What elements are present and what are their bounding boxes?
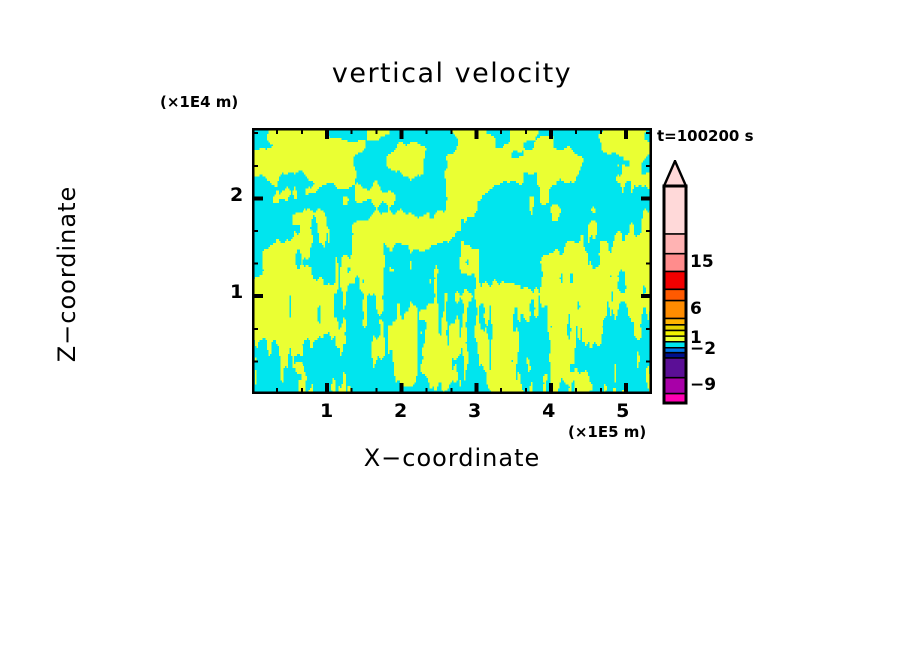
colorbar-tick-label: −2: [690, 339, 716, 359]
colorbar-tick-label: 6: [690, 299, 702, 319]
contour-plot: [252, 128, 652, 394]
colorbar-arrow-cap: [664, 161, 686, 186]
colorbar-band: [664, 358, 686, 378]
y-axis-unit-label: (×1E4 m): [160, 93, 238, 111]
x-tick-label: 3: [468, 400, 481, 422]
y-tick-label: 2: [230, 184, 243, 206]
y-tick-label: 1: [230, 281, 243, 303]
colorbar-band: [664, 301, 686, 319]
colorbar-tick-label: −9: [690, 375, 716, 395]
x-axis-title: X−coordinate: [0, 444, 904, 472]
colorbar: [662, 160, 704, 405]
colorbar-band: [664, 378, 686, 394]
x-tick-label: 1: [320, 400, 333, 422]
colorbar-band: [664, 271, 686, 289]
colorbar-band: [664, 234, 686, 254]
x-tick-label: 5: [616, 400, 629, 422]
y-axis-title: Z−coordinate: [53, 144, 81, 404]
colorbar-band: [664, 186, 686, 234]
x-axis-unit-label: (×1E5 m): [568, 423, 646, 441]
page-title: vertical velocity: [0, 58, 904, 89]
colorbar-band: [664, 289, 686, 301]
colorbar-band: [664, 254, 686, 272]
colorbar-tick-label: 15: [690, 252, 714, 272]
x-tick-label: 2: [394, 400, 407, 422]
figure-root: vertical velocity (×1E4 m) t=100200 s 12…: [0, 0, 904, 654]
timestamp-annotation: t=100200 s: [657, 127, 754, 145]
x-tick-label: 4: [542, 400, 555, 422]
